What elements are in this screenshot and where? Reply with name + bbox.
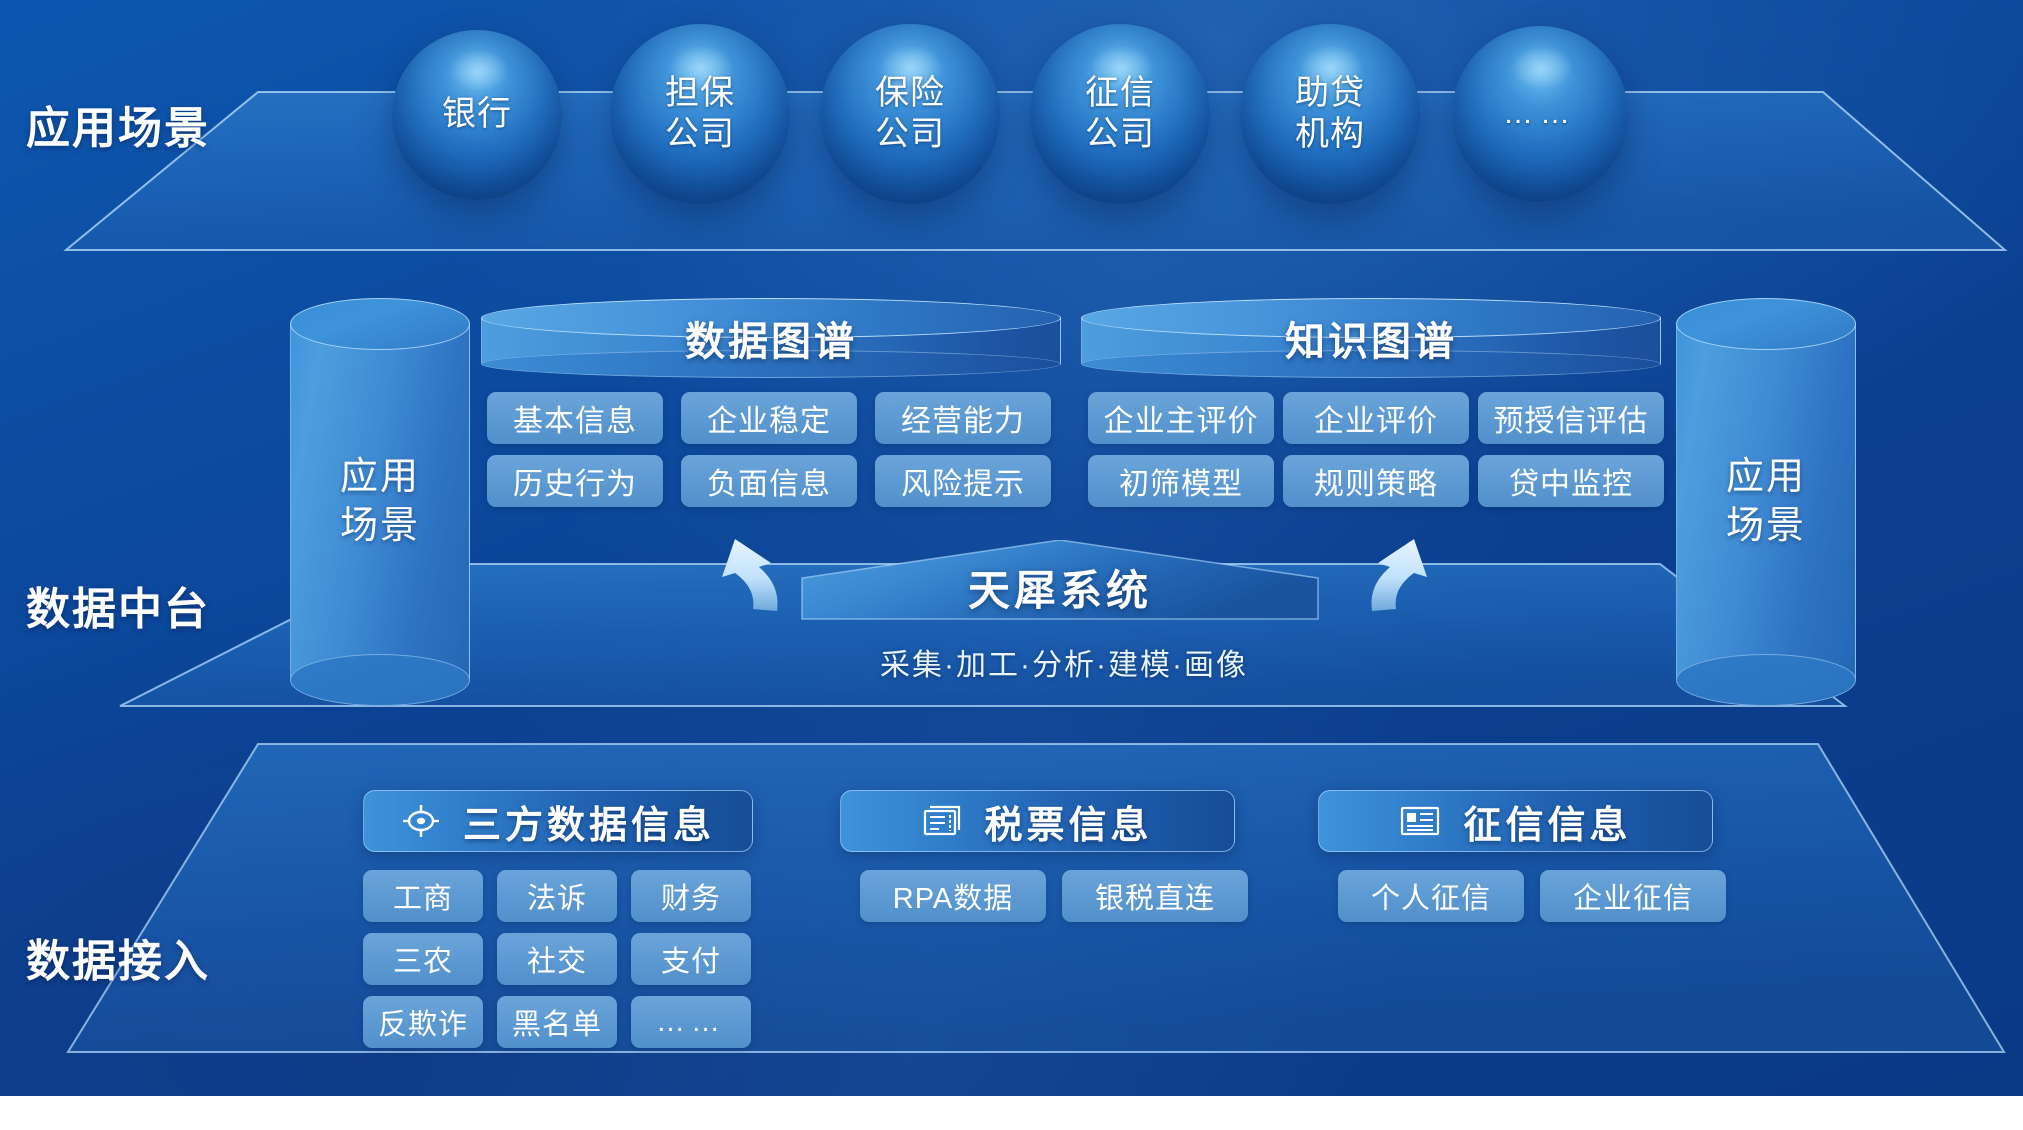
source-item-tax-invoice[interactable]: 银税直连 xyxy=(1062,870,1248,922)
layer-label-application: 应用场景 xyxy=(26,92,210,156)
source-item-third-party[interactable]: 工商 xyxy=(363,870,483,922)
system-banner[interactable]: 天犀系统 xyxy=(800,540,1320,620)
source-item-credit-report[interactable]: 企业征信 xyxy=(1540,870,1726,922)
source-header-tax-invoice[interactable]: 税票信息 xyxy=(840,790,1235,852)
scenario-sphere-credit-company[interactable]: 征信 公司 xyxy=(1030,24,1210,204)
knowledge-graph-disc[interactable]: 知识图谱 xyxy=(1081,298,1661,378)
right-application-cylinder[interactable]: 应用 场景 xyxy=(1676,298,1856,706)
arrow-up-right-icon xyxy=(1334,525,1444,625)
architecture-diagram: 应用场景 数据中台 数据接入 银行 担保 公司 保险 公司 征信 公司 助贷 机… xyxy=(0,0,2023,1130)
data-graph-tag[interactable]: 经营能力 xyxy=(875,392,1051,444)
data-graph-disc[interactable]: 数据图谱 xyxy=(481,298,1061,378)
invoice-document-icon xyxy=(922,803,962,839)
arrow-up-left-icon xyxy=(705,525,815,625)
scenario-sphere-insurance[interactable]: 保险 公司 xyxy=(820,24,1000,204)
scenario-sphere-loan-agency[interactable]: 助贷 机构 xyxy=(1240,24,1420,204)
data-graph-tag[interactable]: 历史行为 xyxy=(487,455,663,507)
scenario-sphere-guarantee[interactable]: 担保 公司 xyxy=(610,24,790,204)
scenario-sphere-label: 征信 公司 xyxy=(1085,73,1155,156)
source-item-third-party[interactable]: 法诉 xyxy=(497,870,617,922)
knowledge-graph-tag[interactable]: 规则策略 xyxy=(1283,455,1469,507)
source-title: 征信信息 xyxy=(1463,794,1631,849)
source-header-third-party[interactable]: 三方数据信息 xyxy=(363,790,753,852)
knowledge-graph-tag[interactable]: 企业主评价 xyxy=(1088,392,1274,444)
source-header-credit-report[interactable]: 征信信息 xyxy=(1318,790,1713,852)
data-graph-tag[interactable]: 企业稳定 xyxy=(681,392,857,444)
source-item-third-party[interactable]: 反欺诈 xyxy=(363,996,483,1048)
source-title: 三方数据信息 xyxy=(463,794,715,849)
scenario-sphere-bank[interactable]: 银行 xyxy=(392,30,562,200)
knowledge-graph-tag[interactable]: 预授信评估 xyxy=(1478,392,1664,444)
data-graph-tag[interactable]: 风险提示 xyxy=(875,455,1051,507)
right-cylinder-label: 应用 场景 xyxy=(1676,298,1856,706)
scenario-sphere-label: 银行 xyxy=(442,94,512,135)
data-graph-tag[interactable]: 基本信息 xyxy=(487,392,663,444)
source-item-tax-invoice[interactable]: RPA数据 xyxy=(860,870,1046,922)
left-application-cylinder[interactable]: 应用 场景 xyxy=(290,298,470,706)
layer-label-data-access: 数据接入 xyxy=(26,925,210,989)
id-card-icon xyxy=(1399,804,1441,838)
source-item-third-party[interactable]: 财务 xyxy=(631,870,751,922)
knowledge-graph-tag[interactable]: 初筛模型 xyxy=(1088,455,1274,507)
scenario-sphere-label: 保险 公司 xyxy=(875,73,945,156)
scenario-sphere-label: …… xyxy=(1503,96,1577,133)
knowledge-graph-title: 知识图谱 xyxy=(1081,298,1661,378)
source-item-third-party-more[interactable]: …… xyxy=(631,996,751,1048)
scenario-sphere-more[interactable]: …… xyxy=(1452,26,1628,202)
data-graph-title: 数据图谱 xyxy=(481,298,1061,378)
system-subtitle: 采集·加工·分析·建模·画像 xyxy=(880,640,1248,684)
knowledge-graph-tag[interactable]: 企业评价 xyxy=(1283,392,1469,444)
crosshair-target-icon xyxy=(401,801,441,841)
source-item-third-party[interactable]: 三农 xyxy=(363,933,483,985)
system-name: 天犀系统 xyxy=(800,540,1320,620)
layer-label-data-platform: 数据中台 xyxy=(26,573,210,637)
data-graph-tag[interactable]: 负面信息 xyxy=(681,455,857,507)
scenario-sphere-label: 担保 公司 xyxy=(665,73,735,156)
source-item-third-party[interactable]: 黑名单 xyxy=(497,996,617,1048)
knowledge-graph-tag[interactable]: 贷中监控 xyxy=(1478,455,1664,507)
scenario-sphere-label: 助贷 机构 xyxy=(1295,73,1365,156)
source-item-credit-report[interactable]: 个人征信 xyxy=(1338,870,1524,922)
source-item-third-party[interactable]: 支付 xyxy=(631,933,751,985)
source-title: 税票信息 xyxy=(984,794,1152,849)
source-item-third-party[interactable]: 社交 xyxy=(497,933,617,985)
left-cylinder-label: 应用 场景 xyxy=(290,298,470,706)
